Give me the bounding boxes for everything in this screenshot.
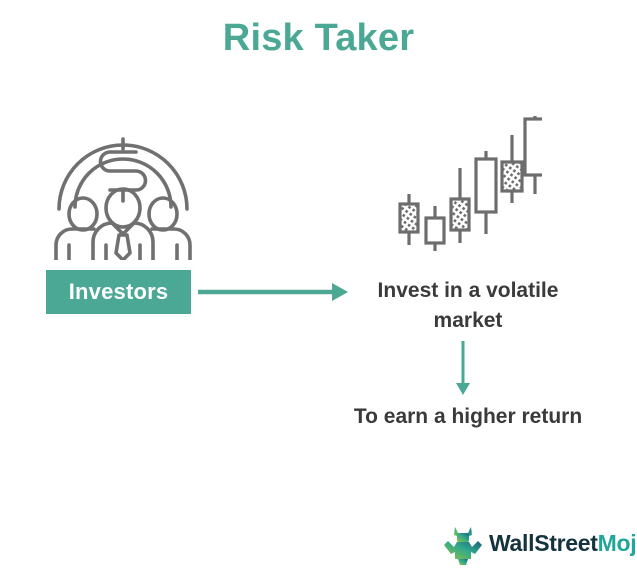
investors-label: Investors — [69, 279, 169, 305]
logo-text-primary: WallStreet — [489, 530, 598, 556]
wallstreetmojo-bull-mascot-icon — [441, 521, 485, 565]
down-arrow-icon — [448, 340, 478, 396]
right-arrow-icon — [196, 278, 348, 306]
step-one-text: Invest in a volatile market — [352, 276, 584, 336]
logo-text-accent: Mojo — [598, 530, 637, 556]
candlestick-chart-icon — [392, 108, 542, 253]
page-title: Risk Taker — [0, 18, 637, 60]
investors-label-box: Investors — [46, 270, 191, 314]
step-two-text: To earn a higher return — [352, 402, 584, 432]
wallstreetmojo-logo: WallStreetMojo — [441, 519, 629, 567]
wallstreetmojo-logo-text: WallStreetMojo — [489, 530, 637, 557]
infographic-canvas: Risk Taker — [0, 0, 637, 586]
investors-group-dollar-icon — [48, 105, 198, 260]
